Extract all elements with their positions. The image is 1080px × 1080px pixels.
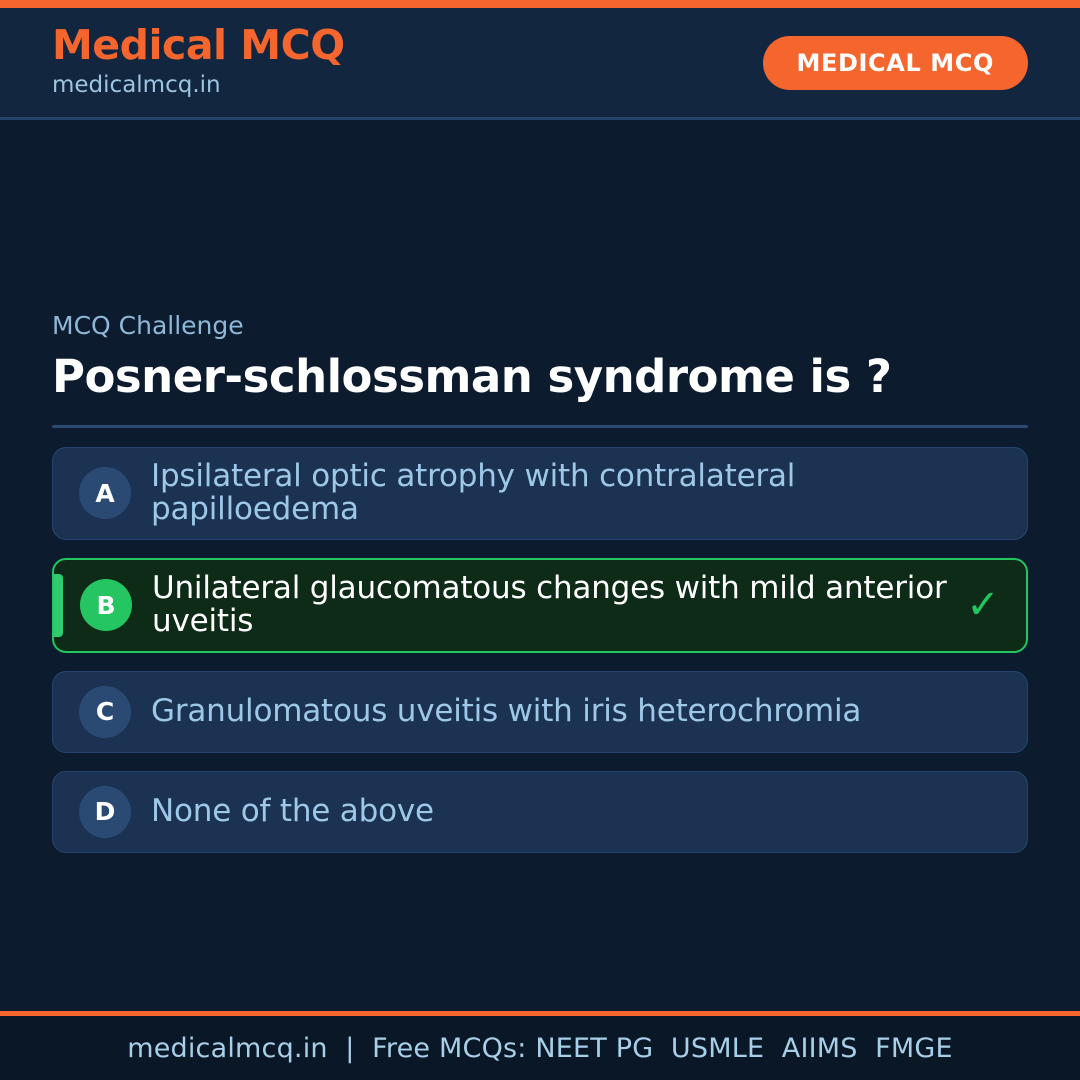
eyebrow-label: MCQ Challenge <box>52 310 1028 343</box>
option-b-text: Unilateral glaucomatous changes with mil… <box>152 572 962 639</box>
main-content: MCQ Challenge Posner-schlossman syndrome… <box>52 310 1028 871</box>
top-accent-bar <box>0 0 1080 8</box>
page-footer: medicalmcq.in | Free MCQs: NEET PG USMLE… <box>0 1016 1080 1080</box>
option-d[interactable]: D None of the above ✓ <box>52 771 1028 853</box>
option-a-text: Ipsilateral optic atrophy with contralat… <box>151 460 963 527</box>
brand-subtitle: medicalmcq.in <box>52 70 345 101</box>
brand-title: Medical MCQ <box>52 24 345 67</box>
page-header: Medical MCQ medicalmcq.in MEDICAL MCQ <box>0 8 1080 120</box>
option-c-text: Granulomatous uveitis with iris heteroch… <box>151 695 963 728</box>
option-a-letter-badge: A <box>79 467 131 519</box>
options-list: A Ipsilateral optic atrophy with contral… <box>52 447 1028 853</box>
brand-block: Medical MCQ medicalmcq.in <box>52 24 345 100</box>
question-divider <box>52 425 1028 428</box>
option-b-letter-badge: B <box>80 579 132 631</box>
footer-text: medicalmcq.in | Free MCQs: NEET PG USMLE… <box>127 1033 953 1064</box>
check-icon: ✓ <box>962 585 1004 625</box>
question-text: Posner-schlossman syndrome is ? <box>52 351 1028 403</box>
option-c[interactable]: C Granulomatous uveitis with iris hetero… <box>52 671 1028 753</box>
option-a[interactable]: A Ipsilateral optic atrophy with contral… <box>52 447 1028 540</box>
option-c-letter-badge: C <box>79 686 131 738</box>
header-badge: MEDICAL MCQ <box>763 36 1028 90</box>
option-d-letter-badge: D <box>79 786 131 838</box>
option-b[interactable]: B Unilateral glaucomatous changes with m… <box>52 558 1028 653</box>
option-d-text: None of the above <box>151 795 963 828</box>
